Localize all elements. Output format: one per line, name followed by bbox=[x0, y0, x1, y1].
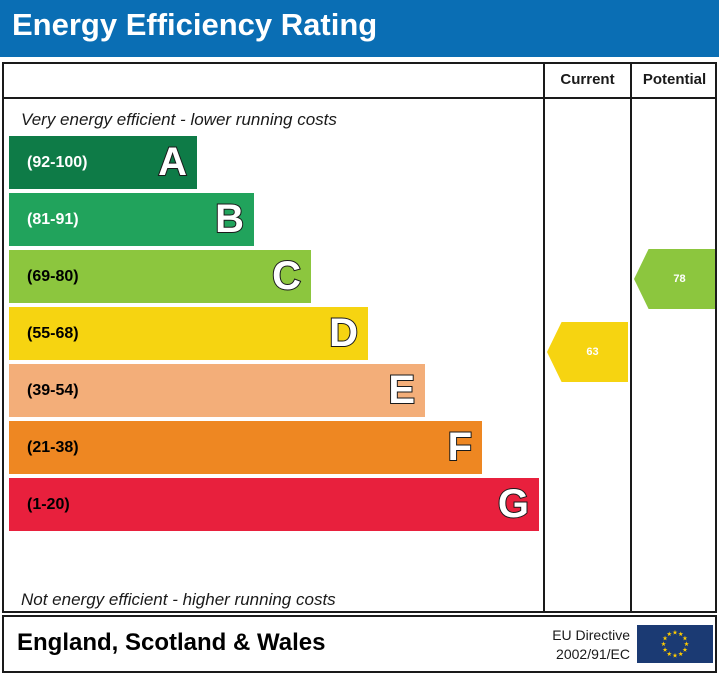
band-letter-f: F bbox=[448, 427, 472, 467]
footer-region-label: England, Scotland & Wales bbox=[17, 629, 325, 657]
potential-rating-arrow: 78 bbox=[634, 249, 715, 309]
column-divider-potential bbox=[630, 64, 632, 611]
band-bar-d: (55-68)D bbox=[9, 307, 368, 360]
column-divider-current bbox=[543, 64, 545, 611]
page-title: Energy Efficiency Rating bbox=[12, 7, 377, 43]
band-range-d: (55-68) bbox=[27, 325, 79, 343]
band-range-a: (92-100) bbox=[27, 154, 87, 172]
band-bar-e: (39-54)E bbox=[9, 364, 425, 417]
band-bar-group: (92-100)A(81-91)B(69-80)C(55-68)D(39-54)… bbox=[9, 136, 541, 586]
chart-footer: England, Scotland & Wales EU Directive 2… bbox=[2, 615, 717, 673]
eu-flag-icon bbox=[637, 625, 713, 663]
band-letter-b: B bbox=[215, 199, 244, 239]
band-bar-c: (69-80)C bbox=[9, 250, 311, 303]
band-bar-a: (92-100)A bbox=[9, 136, 197, 189]
note-very-efficient: Very energy efficient - lower running co… bbox=[21, 110, 337, 130]
band-range-c: (69-80) bbox=[27, 268, 79, 286]
band-letter-c: C bbox=[272, 256, 301, 296]
band-letter-g: G bbox=[498, 484, 529, 524]
band-bar-b: (81-91)B bbox=[9, 193, 254, 246]
column-header-current: Current bbox=[545, 71, 630, 88]
energy-efficiency-rating-chart: Energy Efficiency Rating Current Potenti… bbox=[0, 0, 719, 676]
band-bar-f: (21-38)F bbox=[9, 421, 482, 474]
rating-table: Current Potential Very energy efficient … bbox=[2, 62, 717, 613]
band-range-e: (39-54) bbox=[27, 382, 79, 400]
directive-line-2: 2002/91/EC bbox=[525, 645, 630, 664]
potential-rating-value: 78 bbox=[663, 273, 685, 285]
band-range-b: (81-91) bbox=[27, 211, 79, 229]
footer-directive: EU Directive 2002/91/EC bbox=[525, 626, 630, 664]
current-rating-value: 63 bbox=[576, 346, 598, 358]
chart-header: Energy Efficiency Rating bbox=[0, 0, 719, 57]
band-range-g: (1-20) bbox=[27, 496, 70, 514]
band-bar-g: (1-20)G bbox=[9, 478, 539, 531]
directive-line-1: EU Directive bbox=[525, 626, 630, 645]
current-rating-arrow: 63 bbox=[547, 322, 628, 382]
column-header-potential: Potential bbox=[632, 71, 717, 88]
band-letter-a: A bbox=[158, 142, 187, 182]
band-letter-e: E bbox=[388, 370, 415, 410]
band-letter-d: D bbox=[329, 313, 358, 353]
header-rule bbox=[4, 97, 715, 99]
band-range-f: (21-38) bbox=[27, 439, 79, 457]
note-not-efficient: Not energy efficient - higher running co… bbox=[21, 590, 336, 610]
